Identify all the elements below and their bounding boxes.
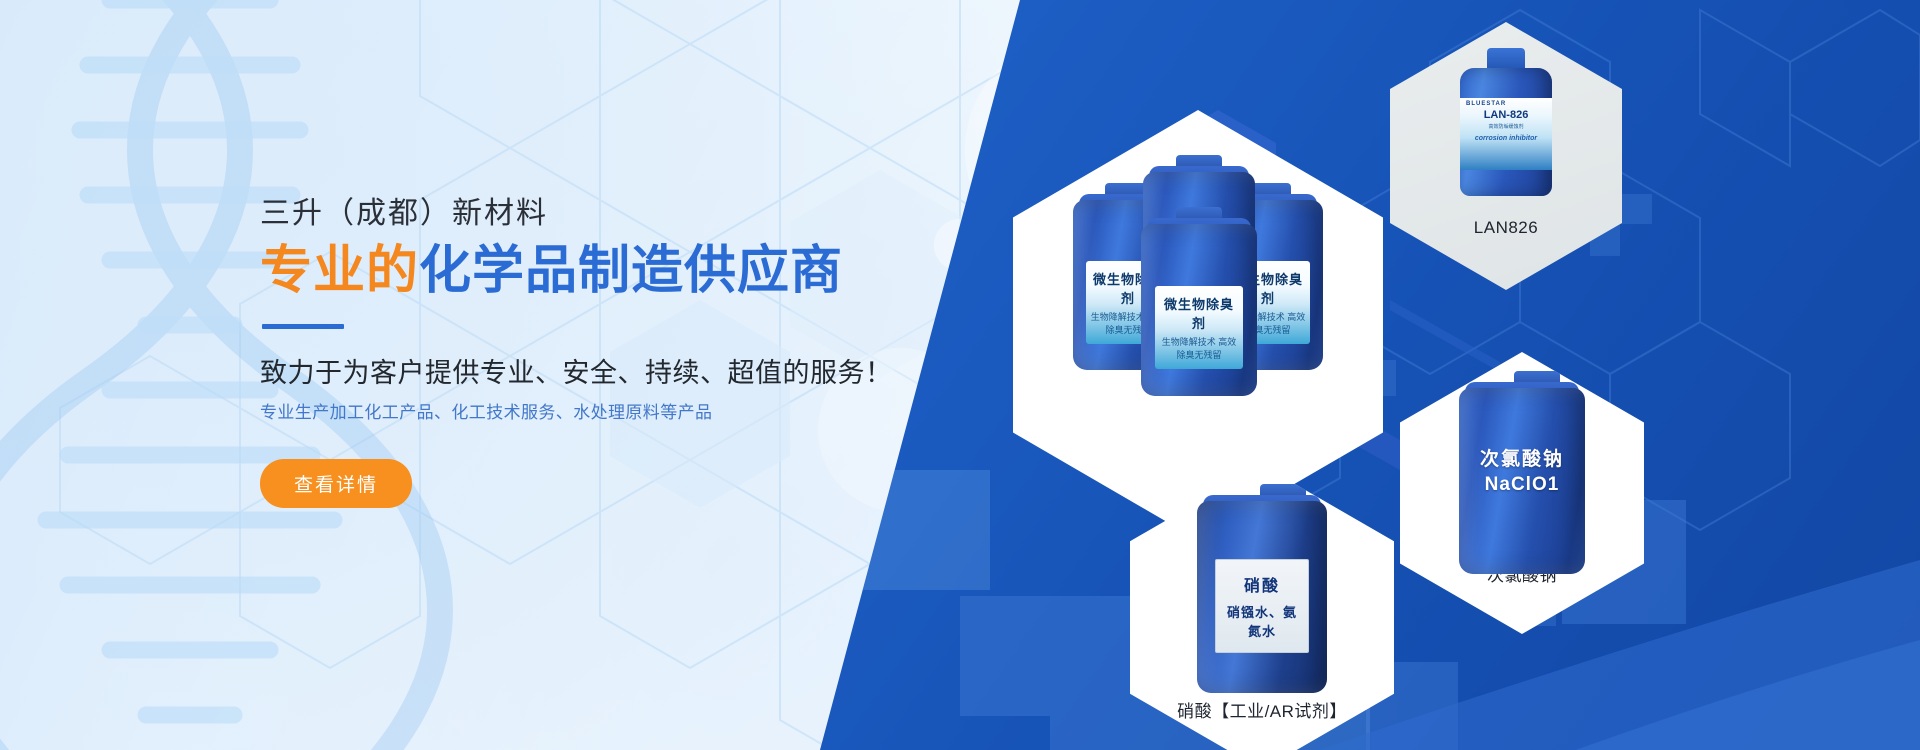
page-title: 专业的化学品制造供应商 xyxy=(260,242,960,302)
lan826-product-image: BLUESTAR LAN-826 高效防垢缓蚀剂 corrosion inhib… xyxy=(1390,48,1622,196)
deodorant-product-image: 微生物除臭剂生物降解技术 高效除臭无残留 微生物除臭剂生物降解技术 高效除臭无残… xyxy=(1013,166,1383,396)
deodorant-pack-sub-3: 生物降解技术 高效除臭无残留 xyxy=(1159,335,1239,361)
lan826-brand: BLUESTAR xyxy=(1460,98,1552,107)
can-front: 微生物除臭剂生物降解技术 高效除臭无残留 xyxy=(1141,224,1257,396)
lan826-pack-en: corrosion inhibitor xyxy=(1460,135,1552,142)
lan826-code: LAN-826 xyxy=(1460,109,1552,121)
headline-highlight: 专业的 xyxy=(260,242,419,300)
naclo-drum-text-cn: 次氯酸钠 xyxy=(1459,444,1585,471)
lan826-pack-sub: 高效防垢缓蚀剂 xyxy=(1460,123,1552,130)
hero-sub-text: 专业生产加工化工产品、化工技术服务、水处理原料等产品 xyxy=(260,401,960,425)
title-divider xyxy=(262,324,344,329)
sodium-hypochlorite-product-image: 次氯酸钠 NaClO1 xyxy=(1400,388,1644,574)
view-details-button[interactable]: 查看详情 xyxy=(260,459,412,508)
hero-banner: 三升（成都）新材料 专业的化学品制造供应商 致力于为客户提供专业、安全、持续、超… xyxy=(0,0,1920,750)
nitric-label-sub: 硝镪水、氨氮水 xyxy=(1220,602,1304,640)
deodorant-pack-label-3: 微生物除臭剂 xyxy=(1159,294,1239,332)
product-caption-lan826: LAN826 xyxy=(1390,218,1622,238)
naclo-drum-formula: NaClO1 xyxy=(1459,474,1585,496)
nitric-acid-product-image: 硝酸 硝镪水、氨氮水 xyxy=(1130,501,1394,693)
company-name: 三升（成都）新材料 xyxy=(260,196,960,232)
nitric-label-main: 硝酸 xyxy=(1220,572,1304,596)
headline-rest: 化学品制造供应商 xyxy=(419,242,843,300)
hero-copy: 三升（成都）新材料 专业的化学品制造供应商 致力于为客户提供专业、安全、持续、超… xyxy=(260,196,960,508)
hero-lead-text: 致力于为客户提供专业、安全、持续、超值的服务！ xyxy=(260,355,960,391)
